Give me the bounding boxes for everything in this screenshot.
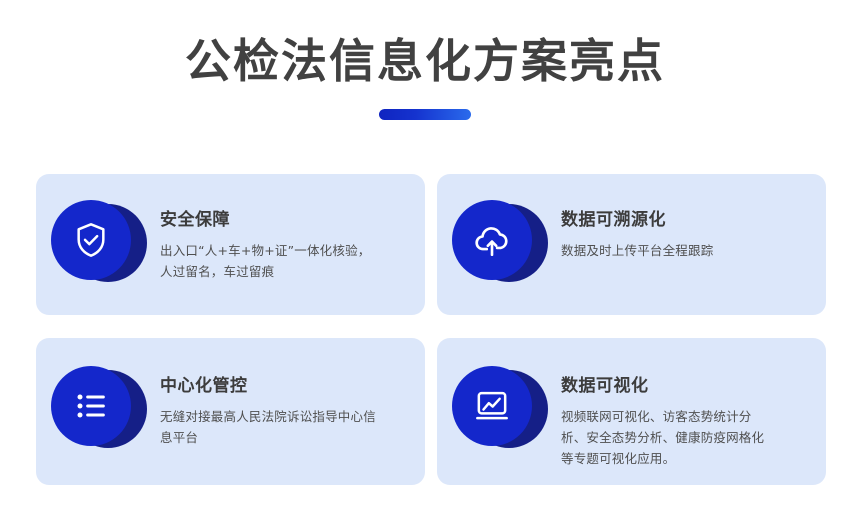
feature-card-centralized-control[interactable]: 中心化管控 无缝对接最高人民法院诉讼指导中心信息平台 [36,338,425,485]
card-title: 中心化管控 [160,376,376,396]
feature-card-data-traceability[interactable]: 数据可溯源化 数据及时上传平台全程跟踪 [437,174,826,315]
icon-badge [452,200,544,288]
cloud-upload-icon [471,219,513,261]
page-root: 公检法信息化方案亮点 安全保障 出入口“人+车+物+证”一体化核 [0,0,850,516]
page-title: 公检法信息化方案亮点 [0,34,850,88]
page-header: 公检法信息化方案亮点 [0,0,850,120]
card-text: 数据可溯源化 数据及时上传平台全程跟踪 [544,174,713,262]
card-title: 数据可视化 [561,376,767,396]
feature-card-grid: 安全保障 出入口“人+车+物+证”一体化核验，人过留名，车过留痕 [36,174,826,485]
card-description: 视频联网可视化、访客态势统计分析、安全态势分析、健康防疫网格化等专题可视化应用。 [561,407,767,469]
card-title: 安全保障 [160,210,376,230]
icon-circle [51,200,131,280]
feature-card-data-visualization[interactable]: 数据可视化 视频联网可视化、访客态势统计分析、安全态势分析、健康防疫网格化等专题… [437,338,826,485]
card-text: 安全保障 出入口“人+车+物+证”一体化核验，人过留名，车过留痕 [143,174,376,283]
card-text: 数据可视化 视频联网可视化、访客态势统计分析、安全态势分析、健康防疫网格化等专题… [544,338,767,469]
icon-circle [452,200,532,280]
feature-card-security[interactable]: 安全保障 出入口“人+车+物+证”一体化核验，人过留名，车过留痕 [36,174,425,315]
card-description: 无缝对接最高人民法院诉讼指导中心信息平台 [160,407,376,448]
card-text: 中心化管控 无缝对接最高人民法院诉讼指导中心信息平台 [143,338,376,449]
icon-circle [452,366,532,446]
title-underline-accent [379,109,471,120]
card-title: 数据可溯源化 [561,210,713,230]
line-chart-icon [472,386,512,426]
icon-circle [51,366,131,446]
icon-badge [51,366,143,454]
card-description: 出入口“人+车+物+证”一体化核验，人过留名，车过留痕 [160,241,376,282]
icon-badge [452,366,544,454]
shield-check-icon [71,220,111,260]
card-description: 数据及时上传平台全程跟踪 [561,241,713,262]
bullet-list-icon [71,386,111,426]
icon-badge [51,200,143,288]
